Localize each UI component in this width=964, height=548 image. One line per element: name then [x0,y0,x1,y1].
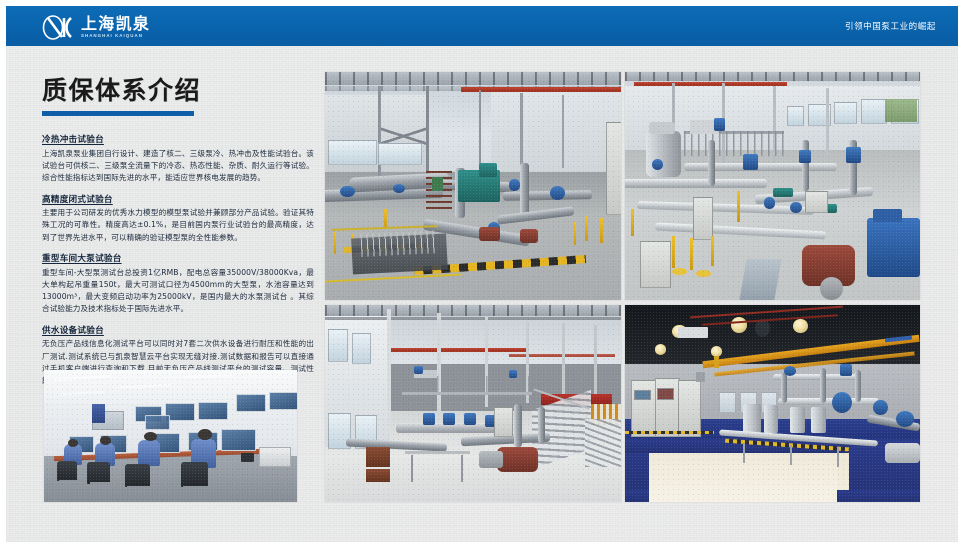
section-body: 上海凯泉泵业集团自行设计、建造了核二、三级泵冷、热冲击及性能试验台。该试验台可供… [42,148,314,185]
section-body: 重型车间-大型泵测试台总投资1亿RMB，配电总容量35000V/38000Kva… [42,267,314,316]
header-bar: 上海凯泉 SHANGHAI KAIQUAN 引领中国泵工业的崛起 [6,6,958,46]
page-title: 质保体系介绍 [42,78,314,104]
section-cold-hot-shock: 冷热冲击试验台 上海凯泉泵业集团自行设计、建造了核二、三级泵冷、热冲击及性能试验… [42,133,314,184]
photo-heavy-workshop-large-pump-hall [325,305,621,502]
section-heading: 重型车间大泵试验台 [42,252,314,264]
kaiquan-logo-mark-icon [40,14,74,41]
slide-root: 上海凯泉 SHANGHAI KAIQUAN 引领中国泵工业的崛起 质保体系介绍 … [0,0,964,548]
sections-list: 冷热冲击试验台 上海凯泉泵业集团自行设计、建造了核二、三级泵冷、热冲击及性能试验… [42,133,314,387]
photo-water-supply-equipment-test-bench [625,305,920,502]
content-text-column: 质保体系介绍 冷热冲击试验台 上海凯泉泵业集团自行设计、建造了核二、三级泵冷、热… [42,78,314,395]
photo-high-precision-closed-test-bench [625,72,920,300]
brand-name-cn: 上海凯泉 [81,16,150,32]
section-heading: 供水设备试验台 [42,324,314,336]
photo-control-room [44,370,297,502]
brand-logo[interactable]: 上海凯泉 SHANGHAI KAIQUAN [40,13,150,41]
section-heavy-workshop-large-pump: 重型车间大泵试验台 重型车间-大型泵测试台总投资1亿RMB，配电总容量35000… [42,252,314,316]
photo-cold-hot-shock-test-bench [325,72,621,300]
section-heading: 冷热冲击试验台 [42,133,314,145]
section-high-precision-closed: 高精度闭式试验台 主要用于公司研发的优秀水力模型的模型泵试验并兼顾部分产品试验。… [42,193,314,244]
brand-name-en: SHANGHAI KAIQUAN [81,34,150,38]
section-body: 主要用于公司研发的优秀水力模型的模型泵试验并兼顾部分产品试验。验证其特殊工况的可… [42,207,314,244]
section-heading: 高精度闭式试验台 [42,193,314,205]
title-underline-rule [42,111,194,116]
header-tagline: 引领中国泵工业的崛起 [845,6,936,46]
